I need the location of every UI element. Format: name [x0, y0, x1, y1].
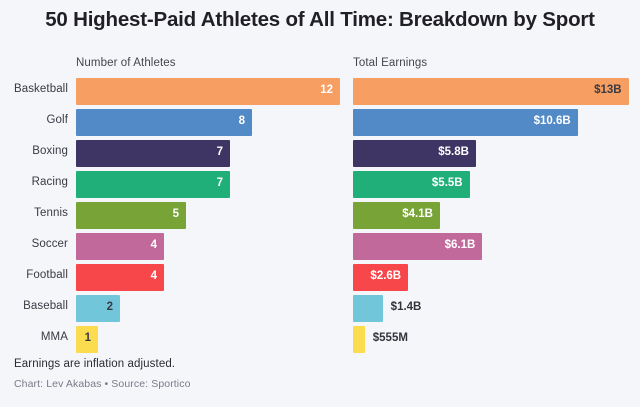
- bar-athletes-tennis[interactable]: [76, 202, 186, 229]
- bar-value-earnings-basketball: $13B: [594, 84, 622, 96]
- bar-row: Tennis5$4.1B: [0, 202, 640, 233]
- category-label-tennis: Tennis: [0, 207, 68, 219]
- panel-header-total-earnings: Total Earnings: [353, 57, 427, 69]
- category-label-mma: MMA: [0, 331, 68, 343]
- bar-value-athletes-soccer: 4: [151, 239, 157, 251]
- category-label-soccer: Soccer: [0, 238, 68, 250]
- bar-value-earnings-racing: $5.5B: [432, 177, 463, 189]
- bar-value-athletes-boxing: 7: [217, 146, 223, 158]
- panel-header-number-of-athletes: Number of Athletes: [76, 57, 176, 69]
- page-title: 50 Highest-Paid Athletes of All Time: Br…: [0, 8, 640, 32]
- category-label-football: Football: [0, 269, 68, 281]
- bar-value-athletes-racing: 7: [217, 177, 223, 189]
- chart-root: 50 Highest-Paid Athletes of All Time: Br…: [0, 0, 640, 407]
- bar-athletes-basketball[interactable]: [76, 78, 340, 105]
- category-label-racing: Racing: [0, 176, 68, 188]
- bar-earnings-baseball[interactable]: [353, 295, 383, 322]
- bar-value-athletes-baseball: 2: [107, 301, 113, 313]
- bar-athletes-boxing[interactable]: [76, 140, 230, 167]
- bar-earnings-basketball[interactable]: [353, 78, 629, 105]
- bar-value-earnings-tennis: $4.1B: [402, 208, 433, 220]
- bar-row: Soccer4$6.1B: [0, 233, 640, 264]
- bar-value-athletes-football: 4: [151, 270, 157, 282]
- bar-row: Racing7$5.5B: [0, 171, 640, 202]
- bar-value-earnings-boxing: $5.8B: [438, 146, 469, 158]
- bar-row: Basketball12$13B: [0, 78, 640, 109]
- bar-value-earnings-golf: $10.6B: [534, 115, 571, 127]
- footnote: Earnings are inflation adjusted.: [14, 358, 175, 370]
- bar-value-earnings-baseball: $1.4B: [391, 301, 422, 313]
- bar-row: Football4$2.6B: [0, 264, 640, 295]
- category-label-basketball: Basketball: [0, 83, 68, 95]
- bar-value-athletes-golf: 8: [239, 115, 245, 127]
- bar-row: Baseball2$1.4B: [0, 295, 640, 326]
- category-label-golf: Golf: [0, 114, 68, 126]
- bar-rows: Basketball12$13BGolf8$10.6BBoxing7$5.8BR…: [0, 78, 640, 357]
- category-label-baseball: Baseball: [0, 300, 68, 312]
- bar-value-earnings-soccer: $6.1B: [445, 239, 476, 251]
- bar-athletes-racing[interactable]: [76, 171, 230, 198]
- bar-value-athletes-tennis: 5: [173, 208, 179, 220]
- bar-athletes-baseball[interactable]: [76, 295, 120, 322]
- category-label-boxing: Boxing: [0, 145, 68, 157]
- bar-row: MMA1$555M: [0, 326, 640, 357]
- chart-credit: Chart: Lev Akabas • Source: Sportico: [14, 378, 191, 390]
- bar-athletes-golf[interactable]: [76, 109, 252, 136]
- bar-value-athletes-basketball: 12: [320, 84, 333, 96]
- bar-value-earnings-mma: $555M: [373, 332, 408, 344]
- bar-row: Golf8$10.6B: [0, 109, 640, 140]
- bar-value-athletes-mma: 1: [85, 332, 91, 344]
- bar-row: Boxing7$5.8B: [0, 140, 640, 171]
- bar-value-earnings-football: $2.6B: [370, 270, 401, 282]
- bar-earnings-mma[interactable]: [353, 326, 365, 353]
